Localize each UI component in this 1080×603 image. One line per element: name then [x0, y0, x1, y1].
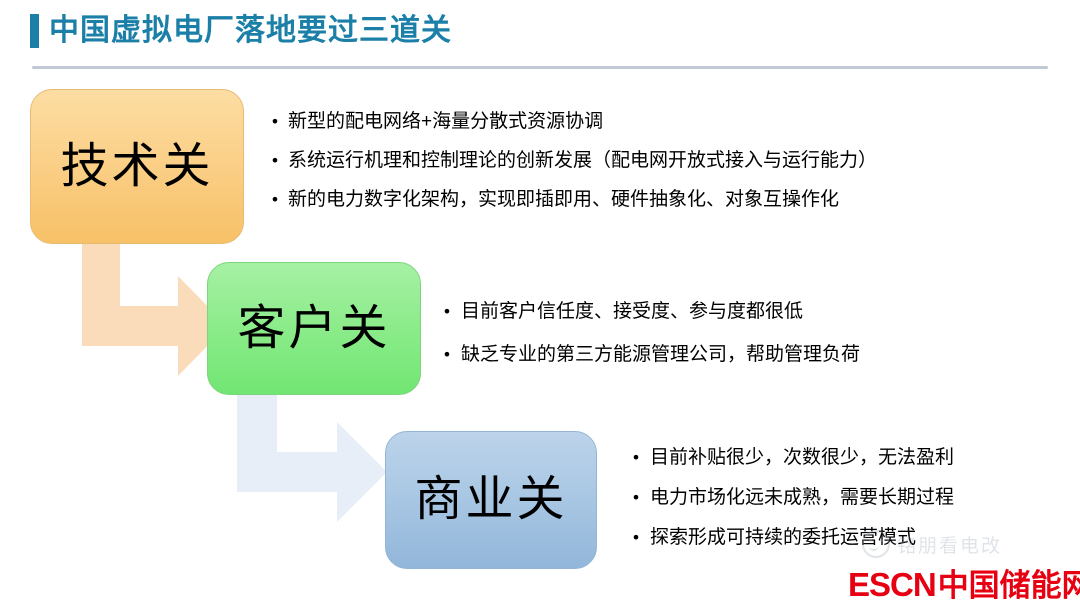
page-title: 中国虚拟电厂落地要过三道关	[30, 14, 452, 48]
bullet-text: 新型的配电网络+海量分散式资源协调	[288, 112, 603, 131]
bullet-list-customer: • 目前客户信任度、接受度、参与度都很低 • 缺乏专业的第三方能源管理公司，帮助…	[433, 302, 860, 364]
logo-name: 中国储能网	[938, 560, 1080, 603]
watermark-text: 铭朋看电改	[897, 531, 1002, 558]
list-item: • 目前补贴很少，次数很少，无法盈利	[622, 448, 954, 467]
smiley-mouth	[869, 545, 879, 551]
stage-label-business: 商业关	[414, 476, 567, 524]
list-item: • 新型的配电网络+海量分散式资源协调	[262, 112, 877, 131]
list-item: • 电力市场化远未成熟，需要长期过程	[622, 488, 954, 507]
stage-box-business[interactable]: 商业关	[385, 431, 597, 569]
bullet-dot-icon: •	[622, 488, 650, 506]
watermark: 铭朋看电改	[862, 530, 1002, 558]
list-item: • 新的电力数字化架构，实现即插即用、硬件抽象化、对象互操作化	[262, 190, 877, 209]
bullet-dot-icon: •	[262, 151, 288, 169]
bullet-dot-icon: •	[262, 190, 288, 208]
title-divider	[32, 66, 1048, 69]
bullet-list-tech: • 新型的配电网络+海量分散式资源协调 • 系统运行机理和控制理论的创新发展（配…	[262, 112, 877, 209]
arrow-tech-to-customer	[82, 238, 227, 378]
list-item: • 目前客户信任度、接受度、参与度都很低	[433, 302, 860, 321]
bullet-dot-icon: •	[262, 112, 288, 130]
bullet-text: 目前补贴很少，次数很少，无法盈利	[650, 448, 954, 467]
smiley-face-icon	[862, 530, 890, 558]
bullet-dot-icon: •	[622, 448, 650, 466]
bullet-text: 新的电力数字化架构，实现即插即用、硬件抽象化、对象互操作化	[288, 190, 839, 209]
stage-label-customer: 客户关	[237, 305, 390, 353]
stage-box-tech[interactable]: 技术关	[30, 89, 244, 244]
title-accent-bar	[30, 14, 39, 48]
arrow-customer-to-business	[237, 390, 387, 525]
title-text: 中国虚拟电厂落地要过三道关	[49, 14, 452, 48]
bullet-text: 目前客户信任度、接受度、参与度都很低	[461, 302, 803, 321]
bullet-text: 缺乏专业的第三方能源管理公司，帮助管理负荷	[461, 345, 860, 364]
bullet-dot-icon: •	[433, 345, 461, 363]
bullet-dot-icon: •	[622, 528, 650, 546]
site-logo: ESCN 中国储能网	[848, 560, 1080, 603]
bullet-text: 电力市场化远未成熟，需要长期过程	[650, 488, 954, 507]
bullet-dot-icon: •	[433, 302, 461, 320]
list-item: • 缺乏专业的第三方能源管理公司，帮助管理负荷	[433, 345, 860, 364]
list-item: • 系统运行机理和控制理论的创新发展（配电网开放式接入与运行能力）	[262, 151, 877, 170]
stage-label-tech: 技术关	[60, 143, 213, 191]
logo-mark: ESCN	[848, 566, 936, 603]
bullet-text: 系统运行机理和控制理论的创新发展（配电网开放式接入与运行能力）	[288, 151, 877, 170]
slide-canvas: 中国虚拟电厂落地要过三道关 技术关 客户关 商业关 • 新型的配电网络+海量分散…	[0, 0, 1080, 603]
stage-box-customer[interactable]: 客户关	[207, 262, 421, 395]
